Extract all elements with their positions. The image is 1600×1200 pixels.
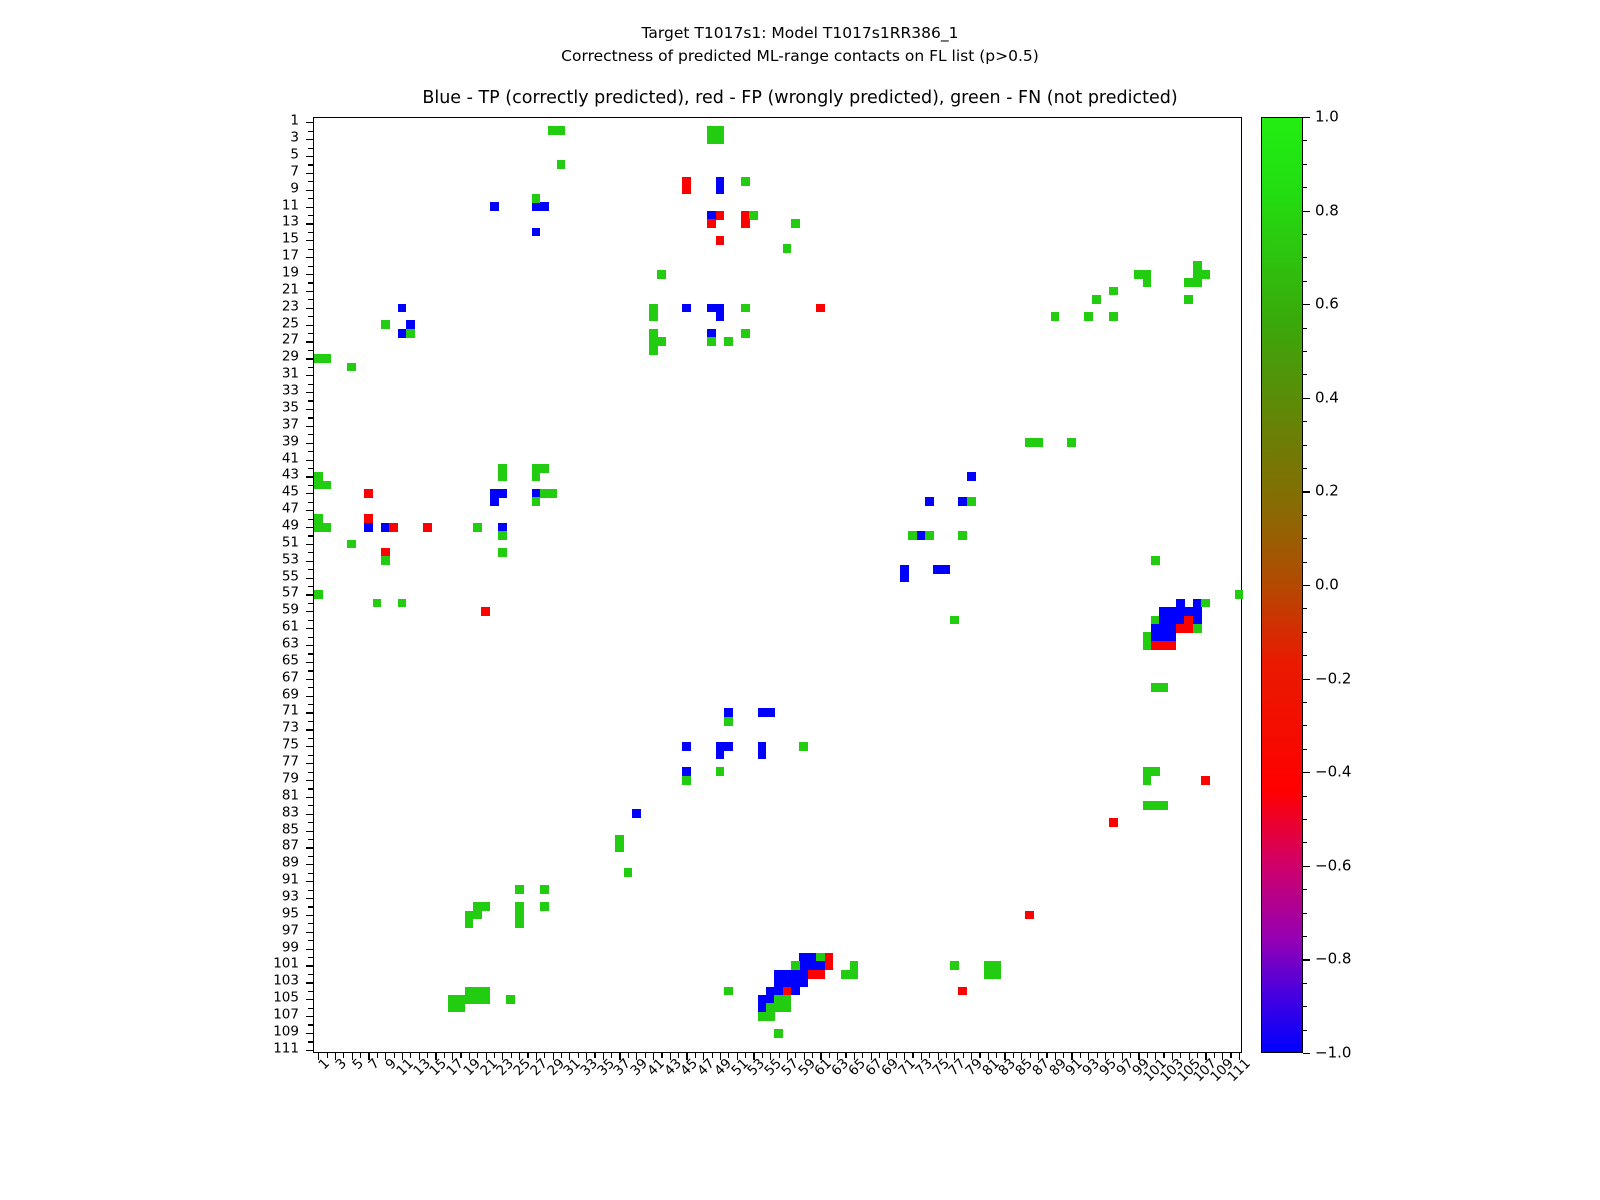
y-tick <box>306 190 314 191</box>
contact-cell-fn <box>1201 599 1210 608</box>
y-tick-label: 75 <box>282 739 299 752</box>
contact-cells-layer <box>314 118 1241 1052</box>
y-tick <box>306 645 314 646</box>
contact-cell-fn <box>1092 295 1101 304</box>
contact-cell-fn <box>347 363 356 372</box>
y-tick <box>308 586 314 587</box>
y-tick <box>306 223 314 224</box>
y-tick <box>308 1008 314 1009</box>
y-tick <box>306 274 314 275</box>
y-tick <box>308 485 314 486</box>
contact-cell-fn <box>347 540 356 549</box>
colorbar-minor-tick <box>1303 538 1307 539</box>
y-tick <box>306 712 314 713</box>
y-tick-label: 97 <box>282 924 299 937</box>
contact-cell-fp <box>741 219 750 228</box>
contact-cell-fn <box>967 497 976 506</box>
y-tick <box>308 215 314 216</box>
y-tick <box>306 1033 314 1034</box>
y-tick-label: 51 <box>282 536 299 549</box>
y-tick-label: 69 <box>282 688 299 701</box>
y-tick <box>306 982 314 983</box>
y-tick <box>306 780 314 781</box>
y-tick-label: 49 <box>282 519 299 532</box>
contact-cell-tp <box>490 202 499 211</box>
y-tick-label: 111 <box>273 1042 299 1055</box>
contact-map-plot-area[interactable] <box>313 117 1242 1053</box>
colorbar-minor-tick <box>1303 702 1307 703</box>
y-tick <box>308 552 314 553</box>
colorbar-minor-tick <box>1303 632 1307 633</box>
contact-cell-fn <box>716 135 725 144</box>
contact-cell-fn <box>615 843 624 852</box>
y-tick <box>306 510 314 511</box>
y-tick <box>308 839 314 840</box>
contact-cell-fn <box>657 337 666 346</box>
y-tick <box>306 915 314 916</box>
y-tick-label: 89 <box>282 857 299 870</box>
y-tick-label: 5 <box>290 148 299 161</box>
colorbar-minor-tick <box>1303 468 1307 469</box>
y-tick <box>308 148 314 149</box>
y-tick <box>306 257 314 258</box>
y-tick-label: 27 <box>282 334 299 347</box>
y-tick-label: 15 <box>282 233 299 246</box>
y-tick-label: 11 <box>282 199 299 212</box>
contact-cell-fn <box>506 995 515 1004</box>
y-tick-label: 103 <box>273 975 299 988</box>
contact-cell-fn <box>548 489 557 498</box>
contact-cell-fn <box>1109 312 1118 321</box>
y-tick-label: 37 <box>282 418 299 431</box>
colorbar-tick <box>1303 1053 1310 1054</box>
contact-cell-fn <box>799 742 808 751</box>
y-tick <box>308 417 314 418</box>
contact-cell-fp <box>716 211 725 220</box>
contact-cell-tp <box>490 497 499 506</box>
contact-cell-fp <box>1109 818 1118 827</box>
colorbar-minor-tick <box>1303 796 1307 797</box>
y-tick <box>308 620 314 621</box>
contact-cell-fp <box>423 523 432 532</box>
y-tick-label: 61 <box>282 621 299 634</box>
colorbar-minor-tick <box>1303 421 1307 422</box>
contact-cell-fn <box>766 1012 775 1021</box>
y-tick <box>308 721 314 722</box>
contact-cell-fn <box>624 868 633 877</box>
colorbar-tick <box>1303 398 1310 399</box>
colorbar-minor-tick <box>1303 257 1307 258</box>
y-tick-label: 65 <box>282 654 299 667</box>
figure-suptitle-line1: Target T1017s1: Model T1017s1RR386_1 <box>0 22 1600 45</box>
contact-cell-fp <box>958 987 967 996</box>
contact-cell-fn <box>498 548 507 557</box>
colorbar-minor-tick <box>1303 725 1307 726</box>
contact-map-figure: Target T1017s1: Model T1017s1RR386_1 Cor… <box>0 0 1600 1200</box>
colorbar-tick <box>1303 304 1310 305</box>
contact-cell-fn <box>498 531 507 540</box>
contact-cell-tp <box>716 185 725 194</box>
contact-cell-fn <box>649 312 658 321</box>
contact-cell-fn <box>1159 683 1168 692</box>
contact-cell-tp <box>540 202 549 211</box>
contact-cell-fn <box>540 464 549 473</box>
y-tick <box>306 999 314 1000</box>
colorbar-minor-tick <box>1303 328 1307 329</box>
colorbar-minor-tick <box>1303 1006 1307 1007</box>
y-tick-label: 57 <box>282 587 299 600</box>
contact-cell-tp <box>766 708 775 717</box>
contact-cell-fn <box>649 346 658 355</box>
colorbar-minor-tick <box>1303 655 1307 656</box>
contact-cell-fn <box>381 320 390 329</box>
y-tick-label: 63 <box>282 638 299 651</box>
contact-cell-tp <box>716 312 725 321</box>
y-tick-label: 19 <box>282 267 299 280</box>
y-tick-label: 73 <box>282 722 299 735</box>
colorbar-tick-labels: 1.00.80.60.40.20.0−0.2−0.4−0.6−0.8−1.0 <box>1303 117 1373 1053</box>
contact-cell-fn <box>473 523 482 532</box>
y-tick <box>306 932 314 933</box>
contact-cell-fn <box>774 1029 783 1038</box>
y-tick <box>306 864 314 865</box>
colorbar-minor-tick <box>1303 936 1307 937</box>
contact-cell-tp <box>925 497 934 506</box>
y-tick <box>308 164 314 165</box>
colorbar-minor-tick <box>1303 374 1307 375</box>
y-tick <box>308 282 314 283</box>
y-tick <box>308 333 314 334</box>
y-tick-label: 59 <box>282 604 299 617</box>
y-tick <box>306 409 314 410</box>
contact-cell-fn <box>925 531 934 540</box>
y-tick <box>308 384 314 385</box>
y-tick <box>308 974 314 975</box>
colorbar-minor-tick <box>1303 749 1307 750</box>
y-tick <box>308 434 314 435</box>
contact-cell-fp <box>816 970 825 979</box>
contact-cell-fn <box>532 194 541 203</box>
contact-cell-fn <box>1235 590 1244 599</box>
contact-cell-fn <box>398 599 407 608</box>
y-tick <box>306 611 314 612</box>
contact-cell-tp <box>498 489 507 498</box>
colorbar-minor-tick <box>1303 842 1307 843</box>
contact-cell-fn <box>373 599 382 608</box>
y-tick <box>308 957 314 958</box>
y-axis-tick-labels: 1357911131517192123252729313335373941434… <box>0 117 307 1053</box>
colorbar-tick <box>1303 211 1310 212</box>
y-tick-label: 9 <box>290 182 299 195</box>
contact-cell-fn <box>992 970 1001 979</box>
contact-cell-fn <box>950 961 959 970</box>
contact-cell-fn <box>540 885 549 894</box>
contact-cell-fp <box>825 961 834 970</box>
y-tick <box>308 873 314 874</box>
colorbar-minor-tick <box>1303 140 1307 141</box>
y-tick <box>308 822 314 823</box>
figure-suptitle-line2: Correctness of predicted ML-range contac… <box>0 45 1600 68</box>
colorbar-tick-label: 0.2 <box>1315 484 1339 499</box>
y-tick <box>306 797 314 798</box>
contact-cell-fn <box>456 1003 465 1012</box>
y-tick <box>306 156 314 157</box>
y-tick <box>306 847 314 848</box>
y-tick <box>308 603 314 604</box>
y-tick <box>308 502 314 503</box>
y-tick-label: 55 <box>282 570 299 583</box>
y-tick <box>308 569 314 570</box>
contact-cell-fn <box>1034 438 1043 447</box>
y-tick <box>308 670 314 671</box>
colorbar-tick <box>1303 866 1310 867</box>
y-tick <box>308 923 314 924</box>
contact-cell-fn <box>1193 624 1202 633</box>
colorbar-tick-label: 0.0 <box>1315 578 1339 593</box>
contact-cell-fn <box>322 523 331 532</box>
y-tick <box>306 207 314 208</box>
y-tick <box>306 375 314 376</box>
contact-cell-fn <box>1143 278 1152 287</box>
y-tick <box>308 687 314 688</box>
y-tick-label: 41 <box>282 452 299 465</box>
y-tick-label: 3 <box>290 132 299 145</box>
y-tick-label: 79 <box>282 772 299 785</box>
contact-cell-tp <box>967 472 976 481</box>
contact-cell-fn <box>1143 776 1152 785</box>
contact-cell-fn <box>1067 438 1076 447</box>
contact-cell-tp <box>942 565 951 574</box>
y-tick-label: 31 <box>282 368 299 381</box>
y-tick <box>308 738 314 739</box>
axes-title-legend: Blue - TP (correctly predicted), red - F… <box>0 88 1600 108</box>
contact-cell-fn <box>532 472 541 481</box>
y-tick <box>308 181 314 182</box>
contact-cell-fn <box>850 970 859 979</box>
contact-cell-fn <box>707 337 716 346</box>
y-tick <box>306 561 314 562</box>
y-tick-label: 17 <box>282 250 299 263</box>
y-tick <box>306 460 314 461</box>
y-tick <box>306 679 314 680</box>
colorbar-gradient <box>1261 117 1303 1053</box>
y-tick <box>306 493 314 494</box>
contact-cell-tp <box>632 809 641 818</box>
contact-cell-fn <box>532 497 541 506</box>
contact-cell-fp <box>682 185 691 194</box>
y-tick <box>306 291 314 292</box>
contact-cell-fn <box>716 767 725 776</box>
y-tick <box>306 662 314 663</box>
contact-cell-fn <box>791 219 800 228</box>
contact-cell-fp <box>389 523 398 532</box>
contact-cell-fn <box>1184 295 1193 304</box>
y-tick <box>308 653 314 654</box>
contact-cell-fn <box>1151 767 1160 776</box>
y-tick <box>306 341 314 342</box>
y-tick <box>306 392 314 393</box>
colorbar-tick-label: 0.4 <box>1315 390 1339 405</box>
y-tick <box>308 451 314 452</box>
y-tick-label: 83 <box>282 806 299 819</box>
x-axis-tick-labels: 1357911131517192123252729313335373941434… <box>313 1057 1242 1147</box>
colorbar-tick <box>1303 679 1310 680</box>
y-tick <box>308 1041 314 1042</box>
y-tick <box>306 628 314 629</box>
colorbar-tick <box>1303 491 1310 492</box>
colorbar-minor-tick <box>1303 351 1307 352</box>
contact-cell-fn <box>682 776 691 785</box>
y-tick-label: 71 <box>282 705 299 718</box>
y-tick-label: 87 <box>282 840 299 853</box>
y-tick <box>306 240 314 241</box>
contact-cell-fn <box>498 472 507 481</box>
y-tick-label: 67 <box>282 671 299 684</box>
contact-cell-fn <box>314 590 323 599</box>
y-tick <box>308 131 314 132</box>
y-tick <box>308 890 314 891</box>
contact-cell-fn <box>1051 312 1060 321</box>
x-tick-label: 1 <box>317 1057 332 1072</box>
contact-cell-fp <box>1168 641 1177 650</box>
contact-cell-fn <box>1193 278 1202 287</box>
y-tick <box>306 358 314 359</box>
colorbar-tick <box>1303 117 1310 118</box>
contact-cell-fn <box>481 902 490 911</box>
contact-cell-fn <box>473 911 482 920</box>
y-tick <box>308 468 314 469</box>
colorbar-minor-tick <box>1303 1030 1307 1031</box>
y-tick <box>308 266 314 267</box>
colorbar-tick-label: 0.6 <box>1315 297 1339 312</box>
y-tick-label: 13 <box>282 216 299 229</box>
y-tick <box>308 299 314 300</box>
contact-cell-fn <box>481 995 490 1004</box>
y-tick <box>306 746 314 747</box>
y-tick-label: 23 <box>282 300 299 313</box>
y-tick-label: 107 <box>273 1009 299 1022</box>
y-tick <box>308 367 314 368</box>
y-tick-label: 109 <box>273 1025 299 1038</box>
contact-cell-tp <box>724 742 733 751</box>
colorbar-minor-tick <box>1303 819 1307 820</box>
colorbar-minor-tick <box>1303 164 1307 165</box>
y-tick <box>306 949 314 950</box>
contact-cell-tp <box>900 573 909 582</box>
contact-cell-tp <box>398 304 407 313</box>
colorbar-tick-label: −0.2 <box>1315 671 1351 686</box>
y-tick <box>308 637 314 638</box>
y-tick-label: 35 <box>282 401 299 414</box>
colorbar-minor-tick <box>1303 983 1307 984</box>
y-tick-label: 45 <box>282 486 299 499</box>
y-tick <box>306 814 314 815</box>
y-tick <box>306 426 314 427</box>
y-tick <box>308 519 314 520</box>
y-tick-label: 25 <box>282 317 299 330</box>
y-tick <box>306 1016 314 1017</box>
contact-cell-fn <box>381 556 390 565</box>
y-tick <box>306 578 314 579</box>
contact-cell-fn <box>1109 287 1118 296</box>
y-tick <box>306 763 314 764</box>
x-tick-label: 5 <box>351 1057 366 1072</box>
contact-cell-fp <box>1025 911 1034 920</box>
contact-cell-fn <box>1151 556 1160 565</box>
y-tick-label: 47 <box>282 503 299 516</box>
contact-cell-fp <box>816 304 825 313</box>
contact-cell-fn <box>1159 801 1168 810</box>
contact-cell-fn <box>1084 312 1093 321</box>
y-tick <box>306 965 314 966</box>
colorbar-minor-tick <box>1303 234 1307 235</box>
y-tick-label: 77 <box>282 756 299 769</box>
y-tick-label: 99 <box>282 941 299 954</box>
y-tick <box>308 991 314 992</box>
contact-cell-fn <box>515 885 524 894</box>
y-tick-label: 95 <box>282 907 299 920</box>
contact-cell-tp <box>682 742 691 751</box>
x-tick-label: 7 <box>367 1057 382 1072</box>
contact-cell-fn <box>322 481 331 490</box>
contact-cell-fn <box>783 244 792 253</box>
contact-cell-tp <box>364 523 373 532</box>
y-tick-label: 85 <box>282 823 299 836</box>
y-tick <box>308 755 314 756</box>
y-tick-label: 81 <box>282 789 299 802</box>
contact-cell-fn <box>657 270 666 279</box>
y-tick <box>308 232 314 233</box>
y-tick-label: 43 <box>282 469 299 482</box>
contact-cell-tp <box>682 304 691 313</box>
y-tick-label: 101 <box>273 958 299 971</box>
y-tick <box>306 898 314 899</box>
colorbar-tick-label: −0.6 <box>1315 858 1351 873</box>
y-tick <box>308 704 314 705</box>
colorbar-minor-tick <box>1303 445 1307 446</box>
colorbar-tick <box>1303 772 1310 773</box>
contact-cell-tp <box>791 987 800 996</box>
colorbar-minor-tick <box>1303 608 1307 609</box>
y-tick-label: 105 <box>273 992 299 1005</box>
colorbar-tick-label: 0.8 <box>1315 203 1339 218</box>
contact-cell-fn <box>406 329 415 338</box>
contact-cell-fn <box>724 337 733 346</box>
contact-cell-tp <box>532 228 541 237</box>
colorbar-minor-tick <box>1303 281 1307 282</box>
y-tick <box>308 1024 314 1025</box>
contact-cell-fn <box>515 919 524 928</box>
colorbar-tick <box>1303 959 1310 960</box>
colorbar-minor-tick <box>1303 515 1307 516</box>
contact-cell-fn <box>724 987 733 996</box>
contact-cell-fp <box>707 219 716 228</box>
y-tick <box>306 831 314 832</box>
y-tick <box>308 350 314 351</box>
colorbar-tick-label: −0.8 <box>1315 952 1351 967</box>
contact-cell-fp <box>716 236 725 245</box>
y-tick-label: 1 <box>290 115 299 128</box>
x-tick-label: 3 <box>334 1057 349 1072</box>
y-tick <box>306 544 314 545</box>
contact-cell-fp <box>1201 776 1210 785</box>
y-tick-label: 93 <box>282 891 299 904</box>
contact-cell-fp <box>481 607 490 616</box>
contact-cell-tp <box>799 978 808 987</box>
y-tick <box>306 122 314 123</box>
y-tick-label: 21 <box>282 283 299 296</box>
contact-cell-fn <box>322 354 331 363</box>
